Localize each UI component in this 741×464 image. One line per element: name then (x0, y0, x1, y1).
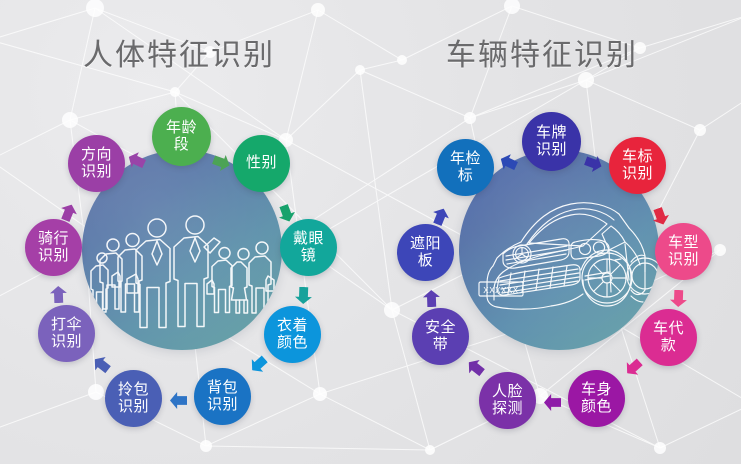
arrow-face-to-bodycolor-arrow (544, 394, 561, 411)
badge-inspection-mark[interactable]: 年检标 (437, 139, 494, 196)
badge-label: 年检标 (448, 151, 483, 185)
badge-label: 背包识别 (205, 380, 240, 414)
badge-handbag[interactable]: 拎包识别 (105, 370, 162, 427)
badge-brand-logo[interactable]: 车标识别 (609, 137, 666, 194)
arrow-clothing-to-glasses-arrow (295, 287, 313, 305)
arrow-visor-to-seatbelt-arrow (423, 290, 441, 308)
badge-label: 拎包识别 (116, 382, 151, 416)
arrow-bodycolor-to-year-arrow (621, 355, 645, 379)
badge-clothing-color[interactable]: 衣着颜色 (264, 306, 321, 363)
arrow-year-to-model-arrow (670, 290, 688, 308)
badge-license-plate[interactable]: 车牌识别 (522, 112, 581, 171)
badge-label: 遮阳板 (408, 236, 443, 270)
badge-sun-visor[interactable]: 遮阳板 (397, 224, 454, 281)
badge-car-model[interactable]: 车型识别 (655, 223, 712, 280)
badge-label: 安全带 (423, 320, 458, 354)
page-title-right: 车辆特征识别 (446, 30, 638, 74)
license-plate-text: XXXXXX (483, 286, 519, 296)
badge-label: 车牌识别 (534, 125, 569, 159)
badge-label: 戴眼镜 (291, 231, 326, 265)
arrow-cycling-to-umbrella-arrow (50, 286, 68, 304)
badge-glasses[interactable]: 戴眼镜 (280, 219, 337, 276)
human-attribute-diagram: 年龄段性别戴眼镜衣着颜色背包识别拎包识别打伞识别骑行识别方向识别 (0, 92, 367, 464)
slide-canvas: 人体特征识别 车辆特征识别 (0, 0, 741, 464)
arrow-handbag-to-backpack-arrow (170, 392, 187, 409)
badge-label: 车型识别 (666, 235, 701, 269)
badge-face-detection[interactable]: 人脸探测 (479, 372, 536, 429)
badge-label: 衣着颜色 (275, 318, 310, 352)
badge-seatbelt[interactable]: 安全带 (412, 308, 469, 365)
arrow-seatbelt-to-face-arrow (464, 356, 488, 380)
badge-cycling[interactable]: 骑行识别 (25, 219, 82, 276)
badge-direction[interactable]: 方向识别 (68, 135, 125, 192)
badge-model-year[interactable]: 车代款 (640, 309, 697, 366)
badge-label: 性别 (244, 155, 279, 172)
arrow-umbrella-to-handbag-arrow (90, 353, 114, 377)
badge-label: 年龄段 (164, 120, 199, 154)
badge-umbrella[interactable]: 打伞识别 (38, 305, 95, 362)
badge-label: 车身颜色 (579, 382, 614, 416)
badge-label: 骑行识别 (36, 231, 71, 265)
badge-label: 车代款 (651, 321, 686, 355)
badge-label: 车标识别 (620, 149, 655, 183)
badge-label: 方向识别 (79, 147, 114, 181)
page-title-left: 人体特征识别 (83, 30, 275, 74)
badge-gender[interactable]: 性别 (233, 135, 290, 192)
vehicle-attribute-diagram: XXXXXX (374, 92, 741, 464)
badge-age-range[interactable]: 年龄段 (152, 107, 211, 166)
badge-body-color[interactable]: 车身颜色 (568, 370, 625, 427)
badge-backpack[interactable]: 背包识别 (194, 368, 251, 425)
arrow-backpack-to-clothing-arrow (246, 352, 270, 376)
badge-label: 打伞识别 (49, 317, 84, 351)
badge-label: 人脸探测 (490, 384, 525, 418)
